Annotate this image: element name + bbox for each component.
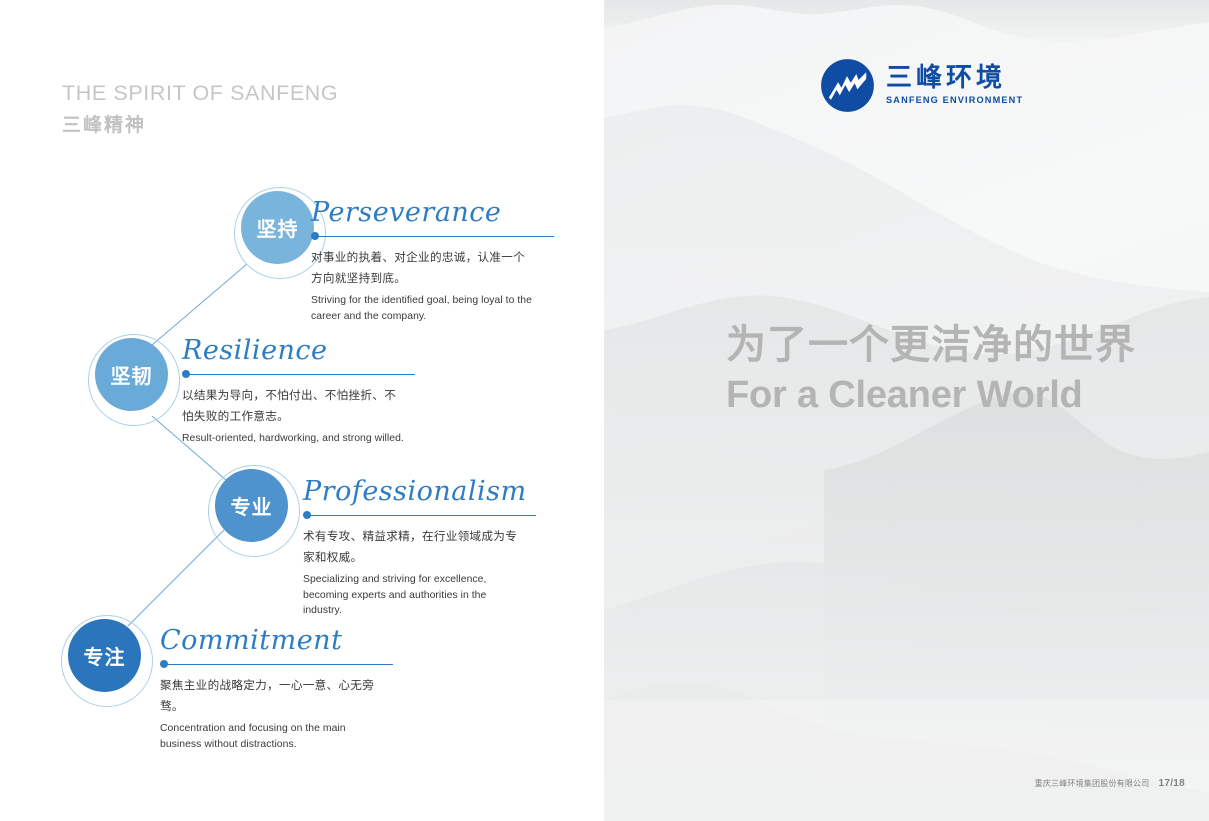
entry-chinese-professionalism: 术有专攻、精益求精，在行业领域成为专家和权威。	[303, 526, 523, 567]
entry-commitment: Commitment 聚焦主业的战略定力，一心一意、心无旁骛。 Concentr…	[160, 627, 410, 752]
logo-chinese: 三峰环境	[886, 65, 1023, 91]
entry-chinese-resilience: 以结果为导向，不怕付出、不怕挫折、不怕失败的工作意志。	[182, 385, 402, 426]
entry-rule-3	[303, 509, 553, 521]
entry-rule-4	[160, 658, 410, 670]
footer-page-number: 17/18	[1158, 778, 1185, 789]
node-circle-resilience[interactable]: 坚韧	[95, 338, 168, 411]
logo-english: SANFENG ENVIRONMENT	[886, 96, 1023, 105]
entry-perseverance: Perseverance 对事业的执着、对企业的忠诚，认准一个方向就坚持到底。 …	[311, 199, 561, 324]
entry-resilience: Resilience 以结果为导向，不怕付出、不怕挫折、不怕失败的工作意志。 R…	[182, 337, 432, 447]
rule-line	[310, 515, 536, 516]
entry-english-resilience: Result-oriented, hardworking, and strong…	[182, 431, 412, 447]
entry-rule-2	[182, 368, 432, 380]
logo-text: 三峰环境 SANFENG ENVIRONMENT	[886, 65, 1023, 105]
brochure-spread: THE SPIRIT OF SANFENG 三峰精神 坚持 Perseveran…	[0, 0, 1209, 821]
entry-rule-1	[311, 230, 561, 242]
left-page: THE SPIRIT OF SANFENG 三峰精神 坚持 Perseveran…	[0, 0, 604, 821]
entry-english-perseverance: Striving for the identified goal, being …	[311, 293, 539, 324]
footer-company-name: 重庆三峰环境集团股份有限公司	[1035, 778, 1150, 789]
entry-chinese-perseverance: 对事业的执着、对企业的忠诚，认准一个方向就坚持到底。	[311, 247, 534, 288]
sanfeng-mountain-logo-icon	[820, 58, 875, 113]
node-circle-perseverance[interactable]: 坚持	[241, 191, 314, 264]
entry-chinese-commitment: 聚焦主业的战略定力，一心一意、心无旁骛。	[160, 675, 385, 716]
page-footer: 重庆三峰环境集团股份有限公司 17/18	[1035, 778, 1185, 789]
entry-script-title-commitment: Commitment	[160, 627, 410, 654]
right-page: 三峰环境 SANFENG ENVIRONMENT 为了一个更洁净的世界 For …	[604, 0, 1209, 821]
entry-professionalism: Professionalism 术有专攻、精益求精，在行业领域成为专家和权威。 …	[303, 478, 553, 619]
node-label-commitment: 专注	[84, 641, 126, 670]
company-logo: 三峰环境 SANFENG ENVIRONMENT	[820, 58, 1023, 113]
slogan-english: For a Cleaner World	[726, 373, 1136, 419]
node-label-perseverance: 坚持	[257, 213, 299, 242]
entry-script-title-professionalism: Professionalism	[303, 478, 553, 505]
entry-script-title-resilience: Resilience	[182, 337, 432, 364]
node-circle-professionalism[interactable]: 专业	[215, 469, 288, 542]
entry-english-professionalism: Specializing and striving for excellence…	[303, 572, 528, 619]
entry-english-commitment: Concentration and focusing on the main b…	[160, 721, 382, 752]
rule-line	[318, 236, 554, 237]
node-label-resilience: 坚韧	[111, 360, 153, 389]
slogan-chinese: 为了一个更洁净的世界	[726, 322, 1136, 369]
rule-line	[189, 374, 415, 375]
node-circle-commitment[interactable]: 专注	[68, 619, 141, 692]
rule-line	[167, 664, 393, 665]
node-label-professionalism: 专业	[231, 491, 273, 520]
entry-script-title-perseverance: Perseverance	[311, 199, 561, 226]
slogan-block: 为了一个更洁净的世界 For a Cleaner World	[726, 322, 1136, 419]
